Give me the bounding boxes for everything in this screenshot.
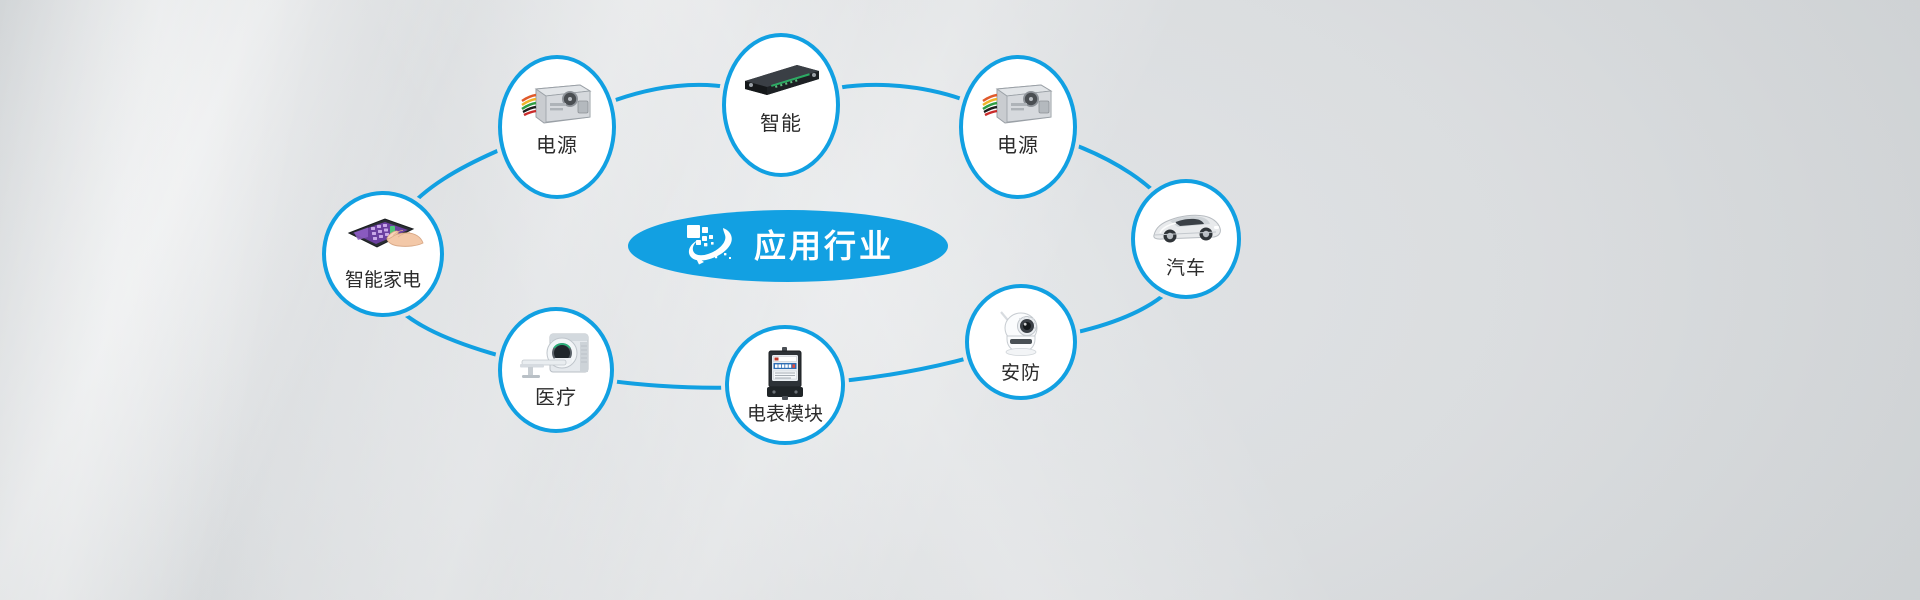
- node-automotive[interactable]: 汽车: [1131, 179, 1241, 299]
- rack-server-icon: [739, 51, 823, 111]
- ct-scanner-icon: [516, 325, 596, 385]
- connector-ring: [0, 0, 1920, 600]
- node-label: 安防: [1001, 364, 1041, 383]
- node-smart[interactable]: 智能: [722, 33, 840, 177]
- atx-power-supply-icon: [981, 73, 1055, 133]
- node-label: 智能: [760, 113, 802, 133]
- center-badge-label: 应用行业: [754, 230, 894, 262]
- application-industries-banner: 电源: [0, 0, 1920, 600]
- node-label: 汽车: [1166, 259, 1206, 278]
- node-smart-home[interactable]: 智能家电: [322, 191, 444, 317]
- node-medical[interactable]: 医疗: [498, 307, 614, 433]
- node-label: 电表模块: [747, 405, 823, 424]
- node-power-left[interactable]: 电源: [498, 55, 616, 199]
- node-power-right[interactable]: 电源: [959, 55, 1077, 199]
- node-security[interactable]: 安防: [965, 284, 1077, 400]
- pixel-swoosh-logo-icon: [682, 220, 740, 272]
- atx-power-supply-icon: [520, 73, 594, 133]
- center-badge[interactable]: 应用行业: [628, 210, 948, 282]
- node-label: 电源: [536, 135, 578, 155]
- node-meter-module[interactable]: 电表模块: [725, 325, 845, 445]
- sports-car-icon: [1148, 197, 1224, 257]
- node-label: 医疗: [535, 387, 577, 407]
- node-label: 电源: [997, 135, 1039, 155]
- ip-camera-icon: [989, 302, 1053, 362]
- node-label: 智能家电: [345, 271, 421, 290]
- tablet-touch-icon: [341, 209, 425, 269]
- electric-meter-icon: [761, 343, 809, 403]
